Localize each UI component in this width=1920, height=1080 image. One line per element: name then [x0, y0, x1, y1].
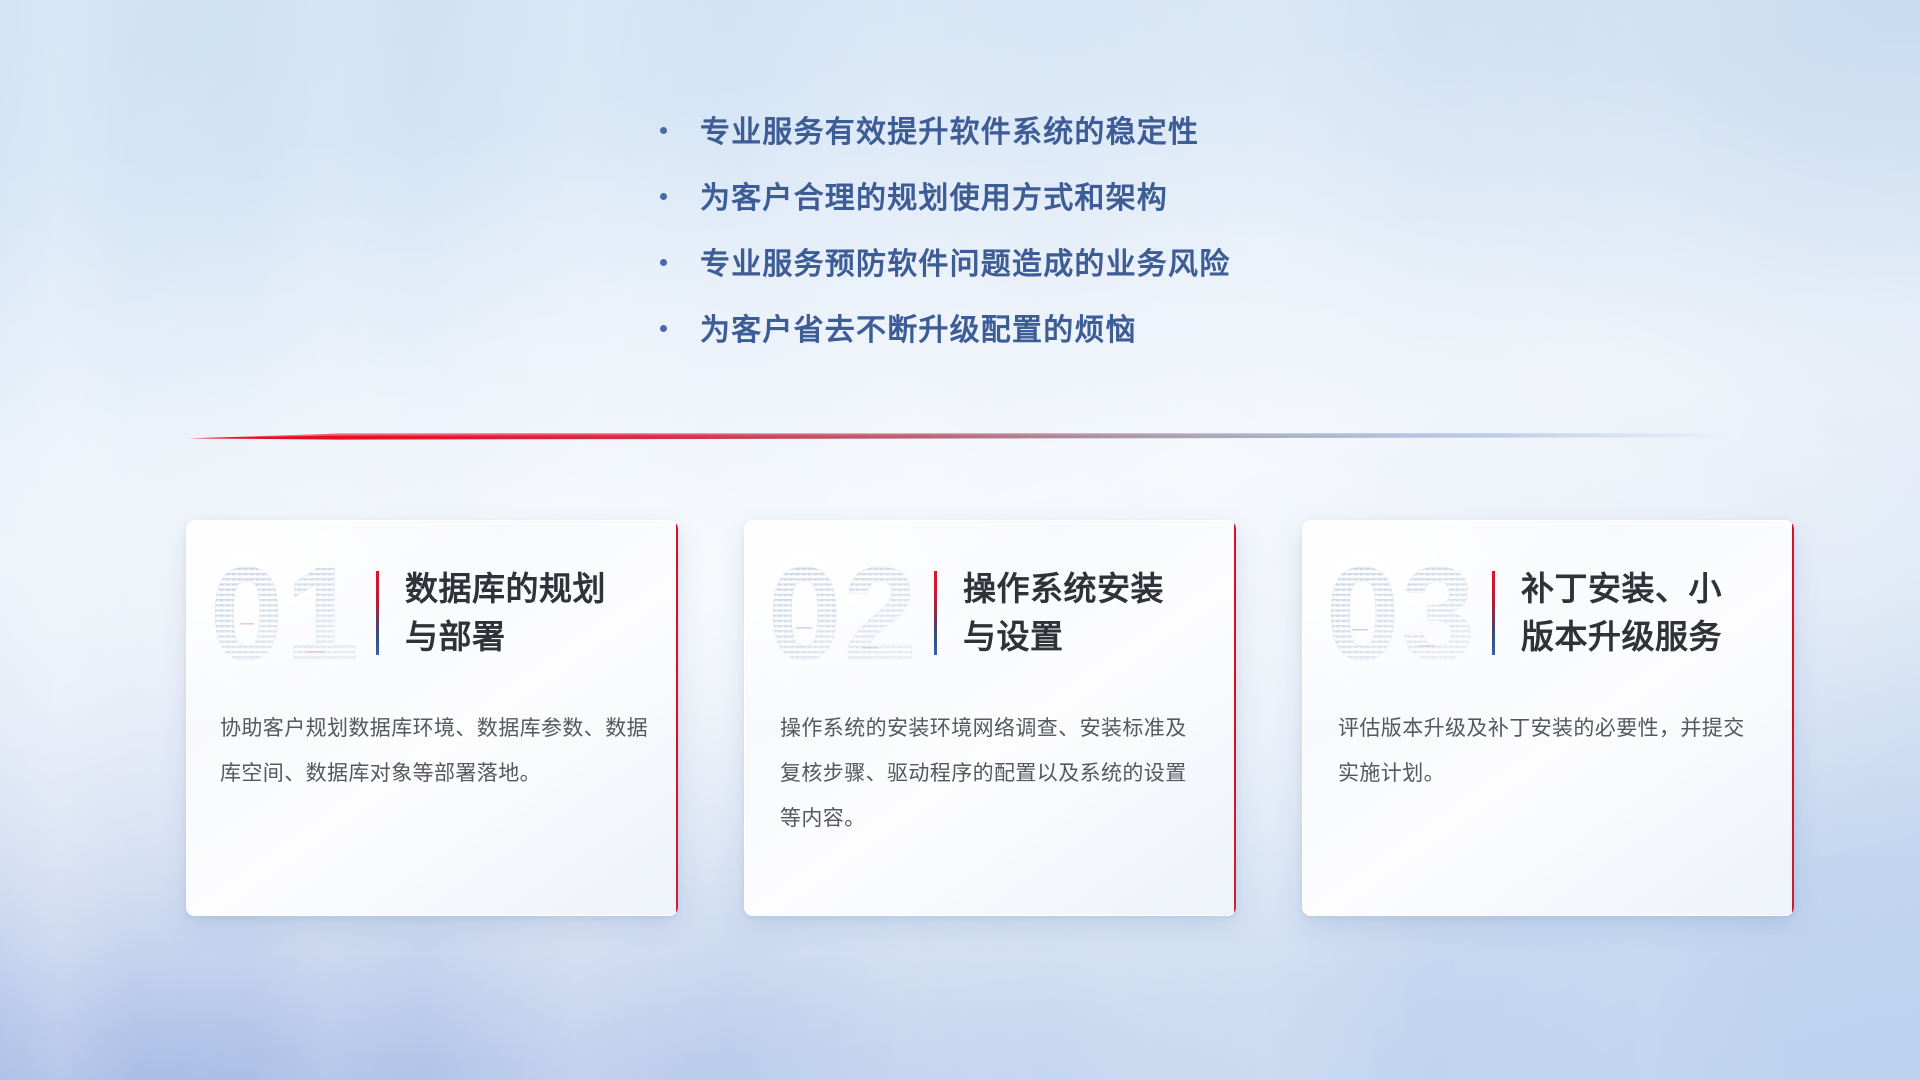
ghost-number-02-icon: 02 02	[766, 547, 926, 679]
card-title-divider-bar	[376, 571, 379, 655]
card-title: 补丁安装、小版本升级服务	[1521, 565, 1753, 661]
svg-text:01: 01	[210, 547, 361, 679]
ghost-number-01-icon: 01 01	[208, 547, 368, 679]
ghost-number-03-icon: 03 03	[1324, 547, 1484, 679]
bullet-text: 专业服务有效提升软件系统的稳定性	[700, 112, 1199, 154]
benefits-bullet-list: 专业服务有效提升软件系统的稳定性 为客户合理的规划使用方式和架构 专业服务预防软…	[660, 112, 1420, 376]
list-item: 专业服务有效提升软件系统的稳定性	[660, 112, 1420, 154]
bullet-text: 专业服务预防软件问题造成的业务风险	[700, 244, 1230, 286]
bullet-dot-icon	[660, 127, 667, 134]
card-header: 02 02 操作系统安装与设置	[744, 520, 1236, 706]
service-card-03[interactable]: 03 03 补丁安装、小版本升级服务 评估版本升级及补丁安装的必要性，并提交实施…	[1302, 520, 1794, 916]
bullet-dot-icon	[660, 259, 667, 266]
svg-text:02: 02	[768, 547, 919, 679]
list-item: 为客户省去不断升级配置的烦恼	[660, 310, 1420, 352]
card-body-text: 操作系统的安装环境网络调查、安装标准及复核步骤、驱动程序的配置以及系统的设置等内…	[744, 706, 1236, 841]
card-header: 01 01 数据库的规划与部署	[186, 520, 678, 706]
card-header: 03 03 补丁安装、小版本升级服务	[1302, 520, 1794, 706]
service-card-02[interactable]: 02 02 操作系统安装与设置 操作系统的安装环境网络调查、安装标准及复核步骤、…	[744, 520, 1236, 916]
bullet-text: 为客户省去不断升级配置的烦恼	[700, 310, 1137, 352]
card-body-text: 协助客户规划数据库环境、数据库参数、数据库空间、数据库对象等部署落地。	[186, 706, 678, 796]
card-body-text: 评估版本升级及补丁安装的必要性，并提交实施计划。	[1302, 706, 1794, 796]
list-item: 为客户合理的规划使用方式和架构	[660, 178, 1420, 220]
card-title: 数据库的规划与部署	[405, 565, 637, 661]
bullet-dot-icon	[660, 193, 667, 200]
svg-text:03: 03	[1326, 547, 1477, 679]
service-card-row: 01 01 数据库的规划与部署 协助客户规划数据库环境、数据库参数、数据库空间、…	[186, 520, 1794, 920]
bullet-dot-icon	[660, 325, 667, 332]
slide-canvas: 专业服务有效提升软件系统的稳定性 为客户合理的规划使用方式和架构 专业服务预防软…	[0, 0, 1920, 1080]
list-item: 专业服务预防软件问题造成的业务风险	[660, 244, 1420, 286]
tapered-wedge-divider-icon	[188, 425, 1733, 447]
service-card-01[interactable]: 01 01 数据库的规划与部署 协助客户规划数据库环境、数据库参数、数据库空间、…	[186, 520, 678, 916]
bullet-text: 为客户合理的规划使用方式和架构	[700, 178, 1168, 220]
card-title-divider-bar	[1492, 571, 1495, 655]
card-title-divider-bar	[934, 571, 937, 655]
card-title: 操作系统安装与设置	[963, 565, 1195, 661]
